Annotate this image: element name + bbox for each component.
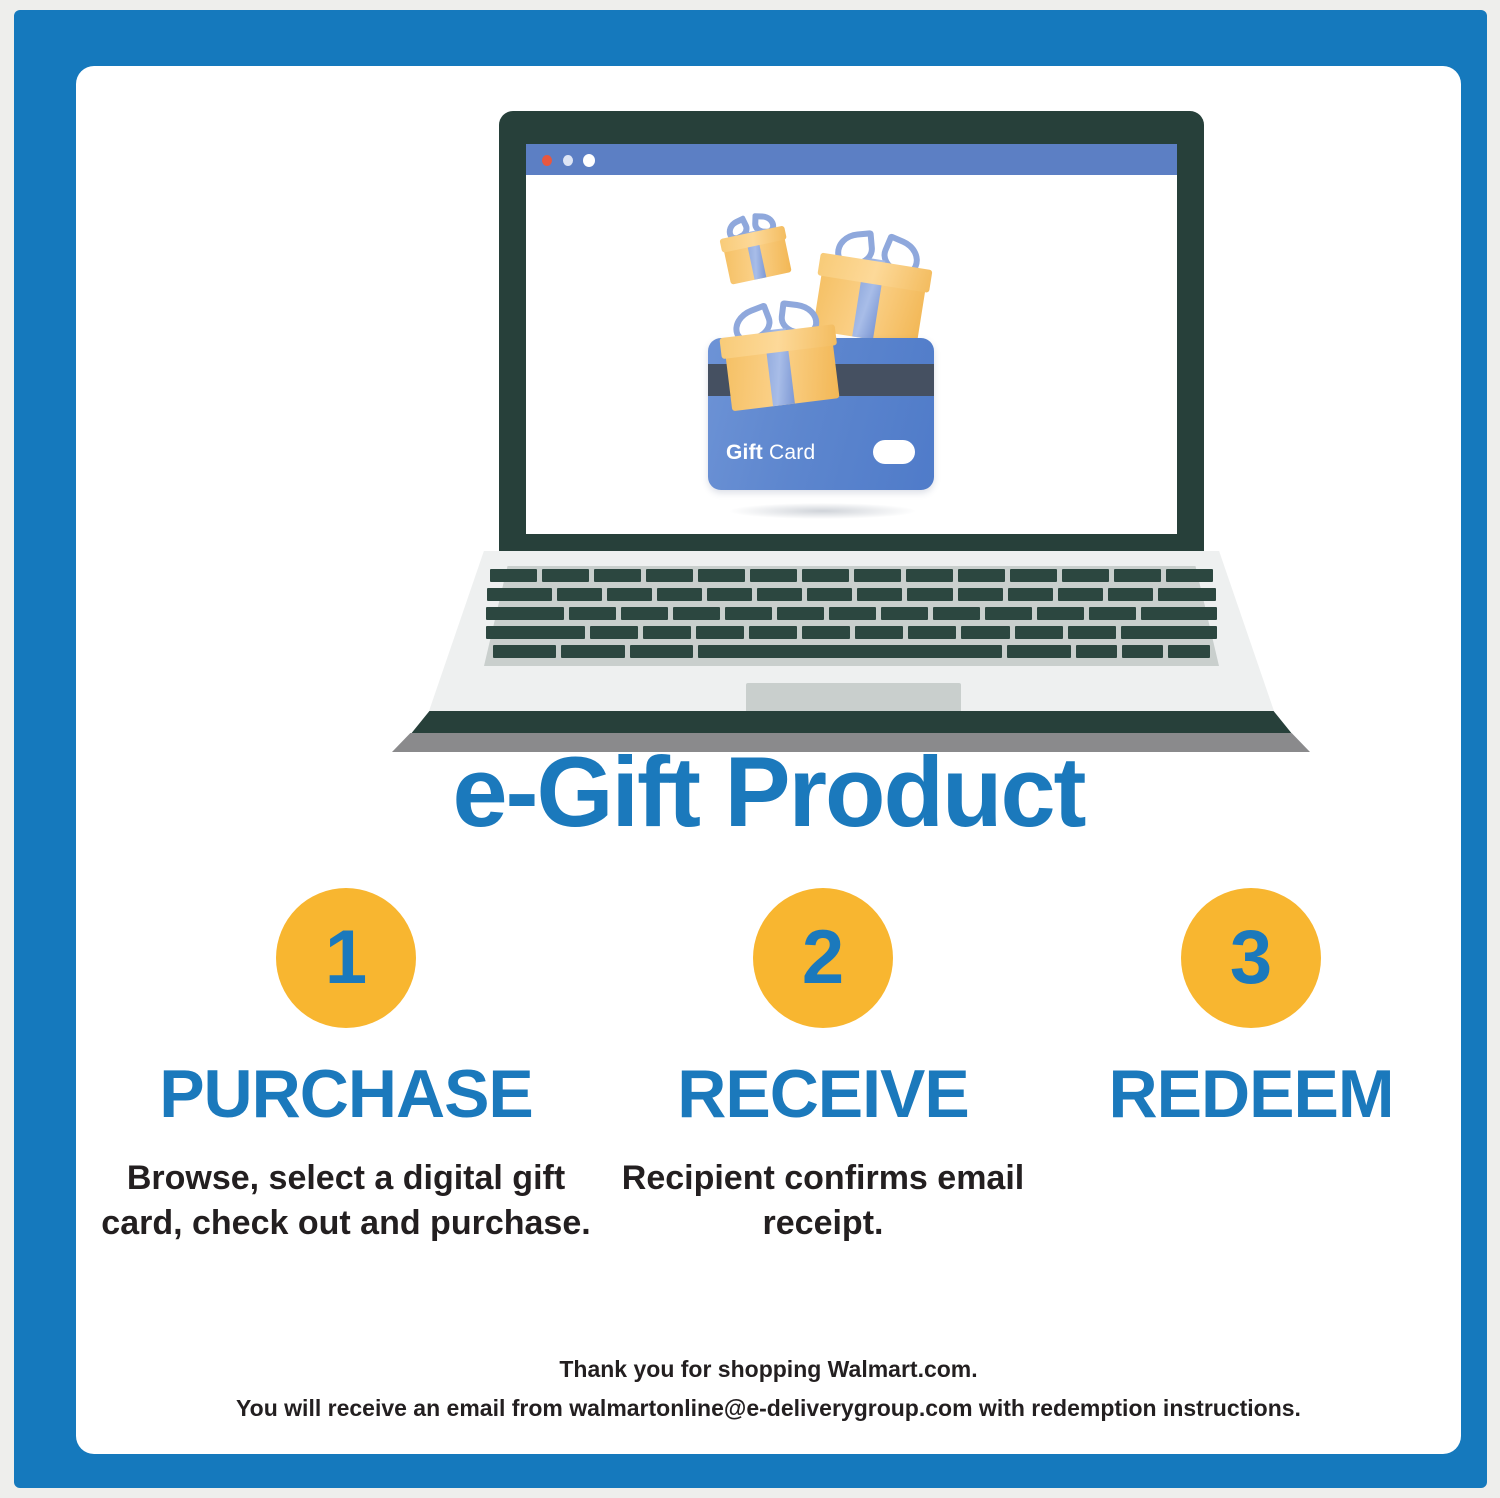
keyboard-key bbox=[569, 607, 616, 620]
keyboard-key bbox=[1062, 569, 1109, 582]
keyboard-key bbox=[698, 569, 745, 582]
keyboard-key bbox=[1010, 569, 1057, 582]
laptop-illustration: Gift Card bbox=[386, 111, 1316, 776]
step-heading-1: PURCHASE bbox=[96, 1060, 596, 1128]
keyboard-key bbox=[643, 626, 691, 639]
gift-card-label-bold: Gift bbox=[726, 441, 763, 464]
step-number-badge-1: 1 bbox=[276, 888, 416, 1028]
keyboard-key bbox=[696, 626, 744, 639]
gift-box-small-icon bbox=[718, 211, 792, 285]
keyboard-key bbox=[881, 607, 928, 620]
keyboard-key bbox=[1089, 607, 1136, 620]
laptop-screen: Gift Card bbox=[526, 144, 1177, 534]
keyboard-row-1 bbox=[484, 569, 1219, 582]
keyboard-key bbox=[657, 588, 702, 601]
step-purchase: 1 PURCHASE Browse, select a digital gift… bbox=[96, 888, 596, 1246]
keyboard-key bbox=[757, 588, 802, 601]
keyboard-row-3 bbox=[484, 607, 1219, 620]
step-heading-3: REDEEM bbox=[1041, 1060, 1461, 1128]
gift-box-front-icon bbox=[720, 301, 839, 411]
keyboard-key bbox=[961, 626, 1009, 639]
footer-note: Thank you for shopping Walmart.com. You … bbox=[76, 1350, 1461, 1427]
keyboard-key bbox=[707, 588, 752, 601]
step-description-2: Recipient confirms email receipt. bbox=[608, 1156, 1038, 1246]
laptop-keyboard bbox=[484, 569, 1219, 663]
keyboard-key bbox=[1008, 588, 1053, 601]
keyboard-key bbox=[1121, 626, 1217, 639]
step-receive: 2 RECEIVE Recipient confirms email recei… bbox=[608, 888, 1038, 1246]
steps-row: 1 PURCHASE Browse, select a digital gift… bbox=[76, 888, 1461, 1218]
white-content-card: Gift Card bbox=[76, 66, 1461, 1454]
maximize-dot-icon[interactable] bbox=[583, 154, 595, 167]
keyboard-key bbox=[621, 607, 668, 620]
keyboard-key bbox=[749, 626, 797, 639]
minimize-dot-icon[interactable] bbox=[563, 155, 573, 166]
keyboard-key bbox=[958, 588, 1003, 601]
keyboard-key bbox=[1168, 645, 1209, 658]
keyboard-key bbox=[1114, 569, 1161, 582]
keyboard-row-4 bbox=[484, 626, 1219, 639]
keyboard-key bbox=[1015, 626, 1063, 639]
keyboard-key bbox=[802, 569, 849, 582]
keyboard-key bbox=[933, 607, 980, 620]
keyboard-key bbox=[646, 569, 693, 582]
keyboard-key bbox=[908, 626, 956, 639]
keyboard-key bbox=[854, 569, 901, 582]
keyboard-key bbox=[594, 569, 641, 582]
keyboard-key bbox=[725, 607, 772, 620]
keyboard-key bbox=[487, 588, 552, 601]
keyboard-row-2 bbox=[484, 588, 1219, 601]
footer-line-2: You will receive an email from walmarton… bbox=[76, 1389, 1461, 1428]
poster-page: Gift Card bbox=[0, 0, 1500, 1498]
gift-card-label-regular: Card bbox=[763, 441, 815, 464]
keyboard-key bbox=[802, 626, 850, 639]
step-redeem: 3 REDEEM bbox=[1041, 888, 1461, 1156]
keyboard-key bbox=[490, 569, 537, 582]
keyboard-key bbox=[985, 607, 1032, 620]
step-description-1: Browse, select a digital gift card, chec… bbox=[96, 1156, 596, 1246]
laptop-lid: Gift Card bbox=[499, 111, 1204, 556]
keyboard-key bbox=[750, 569, 797, 582]
keyboard-key bbox=[698, 645, 1002, 658]
close-dot-icon[interactable] bbox=[542, 155, 552, 166]
blue-border-frame: Gift Card bbox=[14, 10, 1487, 1488]
keyboard-key bbox=[1007, 645, 1070, 658]
keyboard-key bbox=[777, 607, 824, 620]
browser-title-bar bbox=[526, 144, 1177, 175]
keyboard-key bbox=[855, 626, 903, 639]
keyboard-key bbox=[542, 569, 589, 582]
keyboard-key bbox=[607, 588, 652, 601]
gift-card-label: Gift Card bbox=[726, 442, 815, 463]
laptop-base-edge bbox=[410, 711, 1293, 735]
keyboard-key bbox=[1058, 588, 1103, 601]
keyboard-key bbox=[561, 645, 624, 658]
step-number-badge-3: 3 bbox=[1181, 888, 1321, 1028]
keyboard-key bbox=[1141, 607, 1216, 620]
card-chip-icon bbox=[873, 440, 915, 464]
keyboard-key bbox=[486, 607, 564, 620]
keyboard-key bbox=[590, 626, 638, 639]
keyboard-row-5 bbox=[484, 645, 1219, 658]
gift-card-illustration: Gift Card bbox=[702, 203, 1002, 533]
keyboard-key bbox=[906, 569, 953, 582]
keyboard-key bbox=[1158, 588, 1217, 601]
step-number-badge-2: 2 bbox=[753, 888, 893, 1028]
keyboard-key bbox=[486, 626, 585, 639]
keyboard-key bbox=[493, 645, 556, 658]
keyboard-key bbox=[1076, 645, 1117, 658]
keyboard-key bbox=[1108, 588, 1153, 601]
page-title: e-Gift Product bbox=[76, 742, 1461, 841]
keyboard-key bbox=[673, 607, 720, 620]
keyboard-key bbox=[807, 588, 852, 601]
keyboard-key bbox=[557, 588, 602, 601]
footer-line-1: Thank you for shopping Walmart.com. bbox=[76, 1350, 1461, 1389]
keyboard-key bbox=[958, 569, 1005, 582]
keyboard-key bbox=[1166, 569, 1213, 582]
keyboard-key bbox=[1122, 645, 1163, 658]
keyboard-key bbox=[829, 607, 876, 620]
step-heading-2: RECEIVE bbox=[608, 1060, 1038, 1128]
keyboard-key bbox=[1037, 607, 1084, 620]
keyboard-key bbox=[630, 645, 693, 658]
keyboard-key bbox=[907, 588, 952, 601]
keyboard-key bbox=[857, 588, 902, 601]
keyboard-key bbox=[1068, 626, 1116, 639]
browser-viewport: Gift Card bbox=[526, 175, 1177, 534]
card-drop-shadow bbox=[730, 503, 915, 519]
